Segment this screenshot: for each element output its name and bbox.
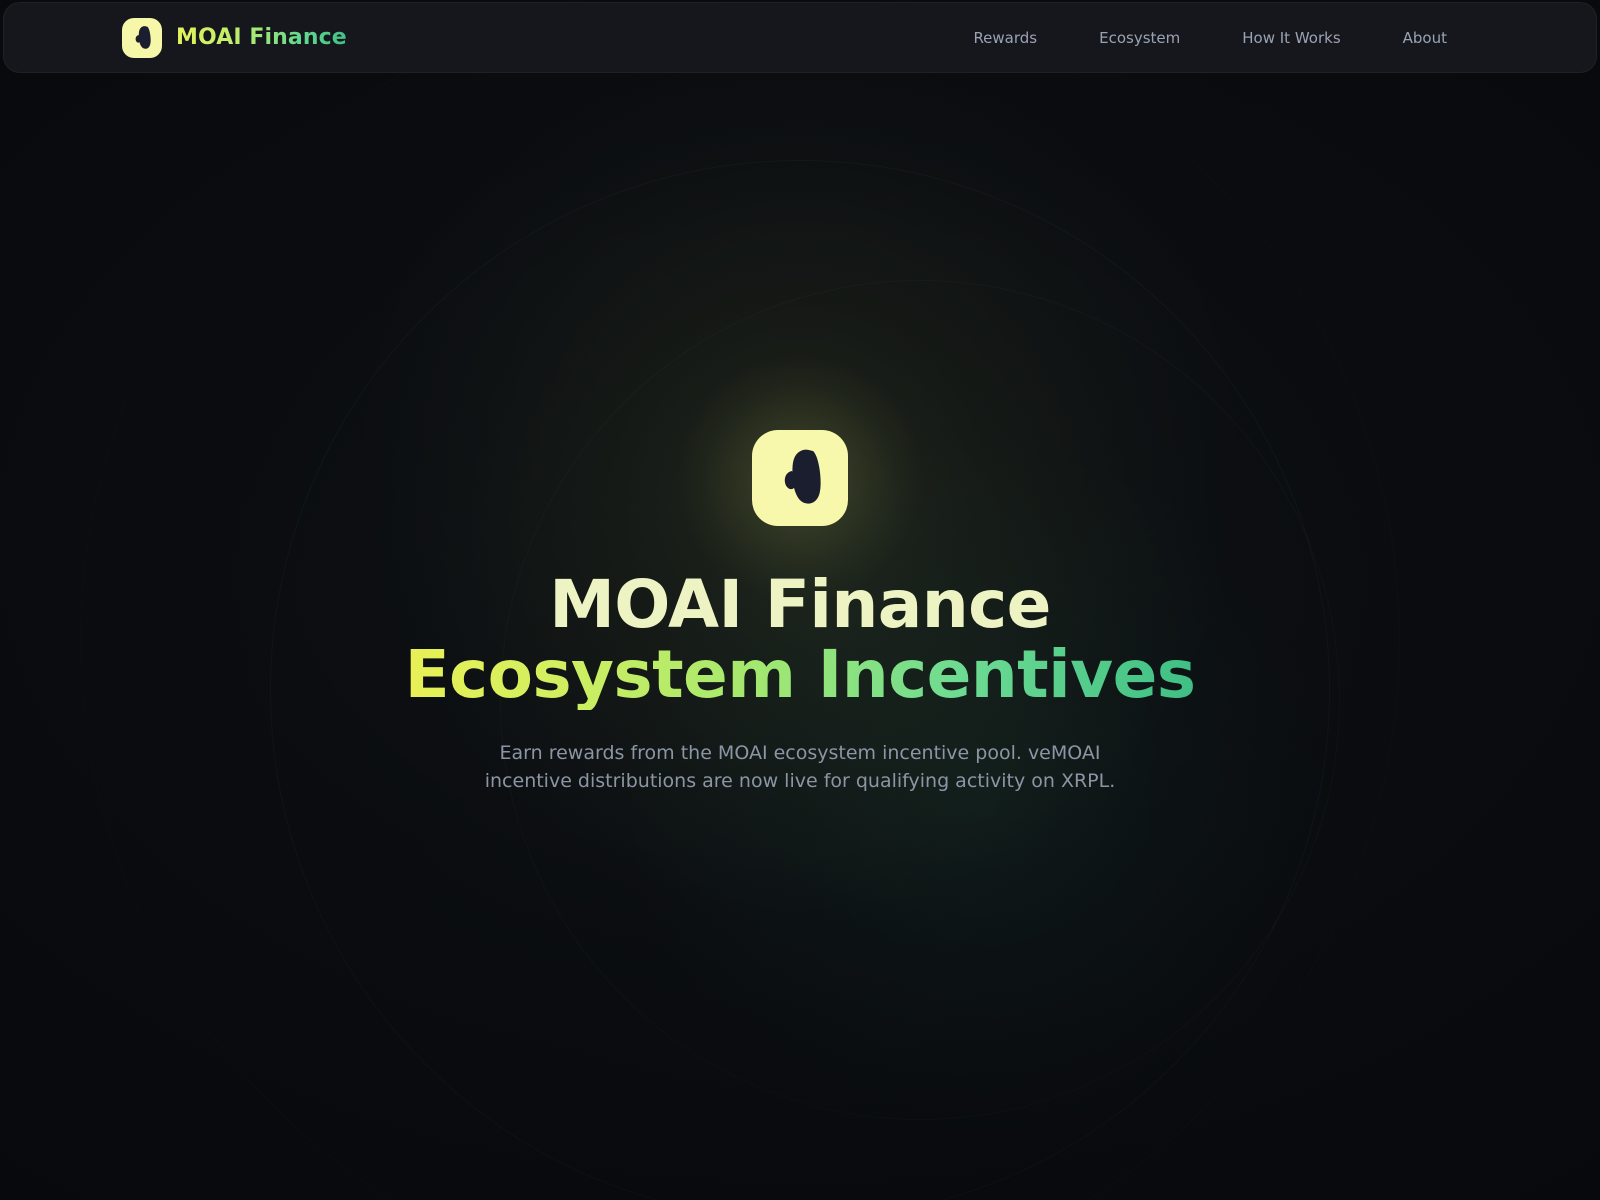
- page-subtitle: Earn rewards from the MOAI ecosystem inc…: [460, 739, 1140, 795]
- site-header: MOAI Finance Rewards Ecosystem How It Wo…: [3, 2, 1597, 73]
- page-title-line-1: MOAI Finance: [405, 570, 1196, 640]
- moai-head-icon: [122, 18, 162, 58]
- moai-head-icon: [752, 430, 848, 526]
- brand-logo[interactable]: MOAI Finance: [122, 18, 347, 58]
- hero-logo: [752, 430, 848, 526]
- nav-link-ecosystem[interactable]: Ecosystem: [1068, 21, 1211, 55]
- nav-link-rewards[interactable]: Rewards: [942, 21, 1068, 55]
- hero-section: MOAI Finance Ecosystem Incentives Earn r…: [0, 73, 1600, 1200]
- brand-name: MOAI Finance: [176, 25, 347, 50]
- main-navigation: Rewards Ecosystem How It Works About: [942, 21, 1478, 55]
- page-title: MOAI Finance Ecosystem Incentives: [405, 570, 1196, 710]
- page-title-line-2: Ecosystem Incentives: [405, 640, 1196, 710]
- nav-link-how-it-works[interactable]: How It Works: [1211, 21, 1371, 55]
- nav-link-about[interactable]: About: [1372, 21, 1478, 55]
